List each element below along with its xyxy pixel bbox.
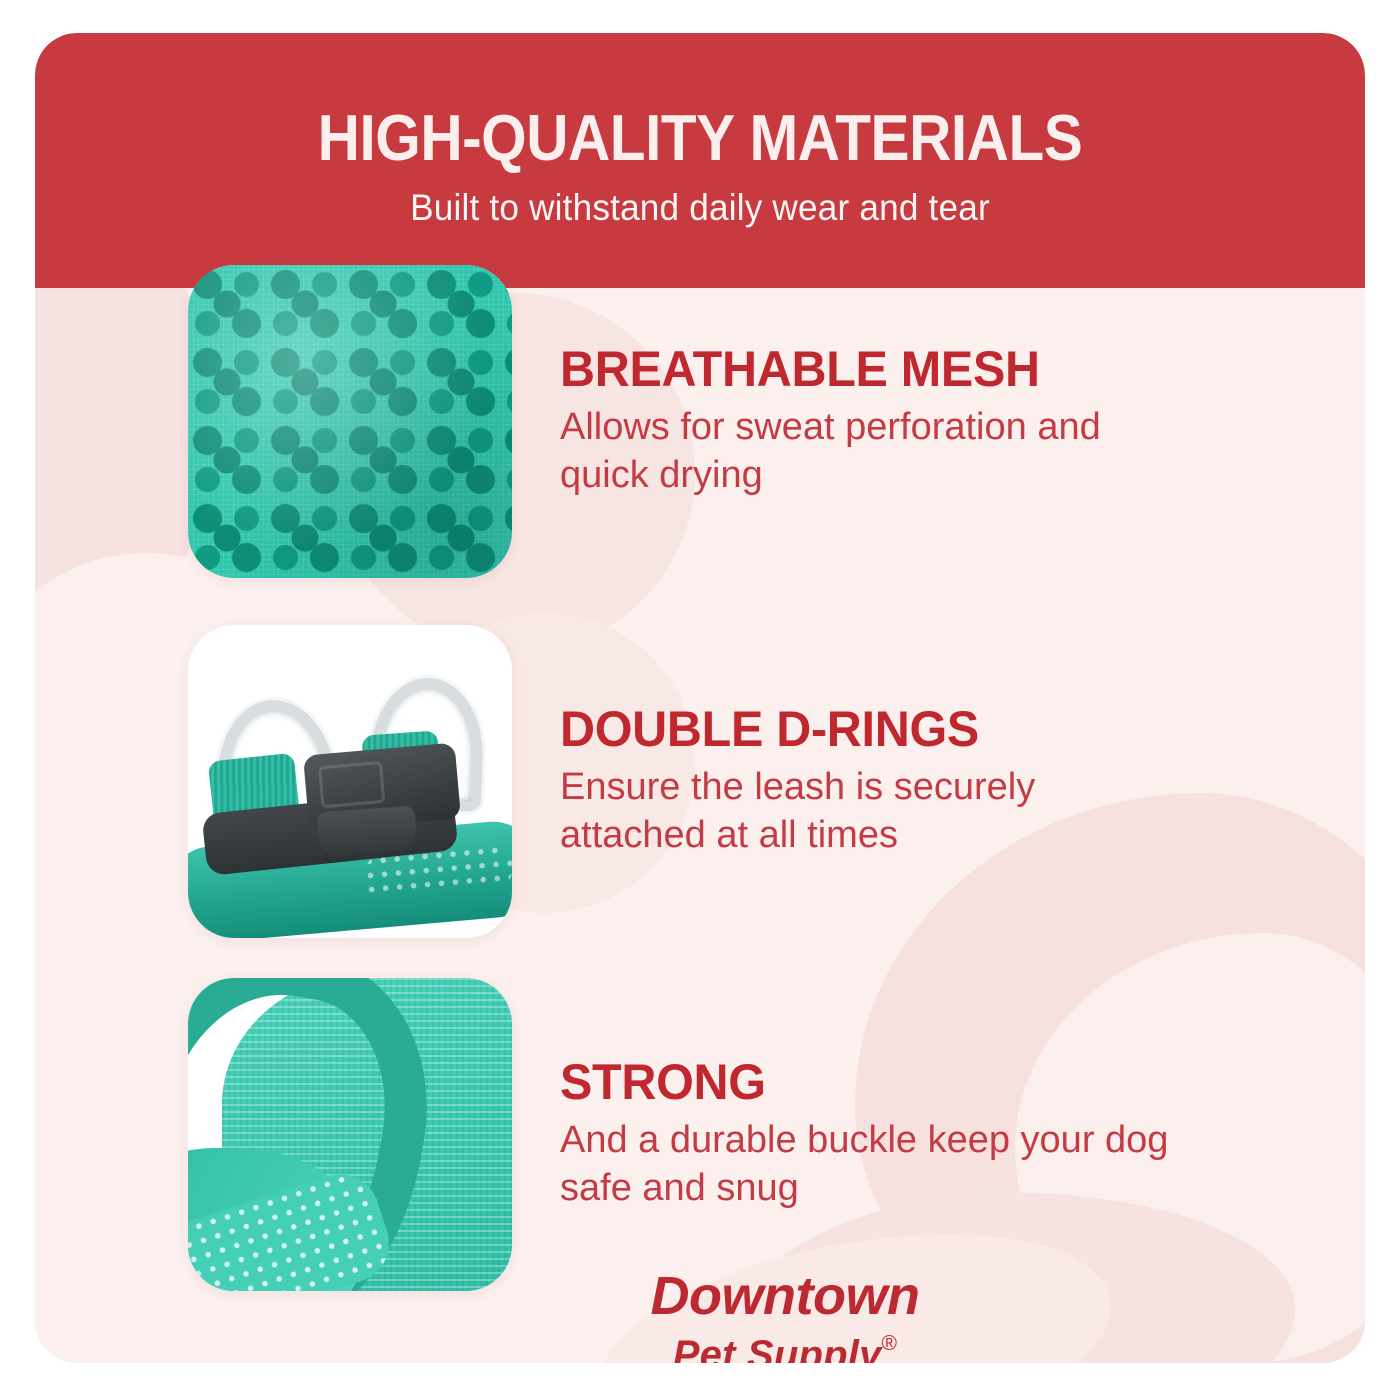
d-rings-art (188, 625, 512, 938)
feature-row-breathable-mesh: BREATHABLE MESH Allows for sweat perfora… (188, 265, 1180, 578)
content-card: HIGH-QUALITY MATERIALS Built to withstan… (35, 33, 1365, 1363)
brand-logo: Downtown Pet Supply® (575, 1269, 995, 1363)
feature-row-strong: STRONG And a durable buckle keep your do… (188, 978, 1180, 1291)
feature-title: DOUBLE D-RINGS (560, 704, 1161, 754)
header-banner: HIGH-QUALITY MATERIALS Built to withstan… (35, 33, 1365, 288)
feature-title: STRONG (560, 1057, 1161, 1107)
double-d-rings-photo (188, 625, 512, 938)
feature-text-breathable-mesh: BREATHABLE MESH Allows for sweat perfora… (560, 344, 1180, 500)
brand-logo-line2-text: Pet Supply (673, 1333, 882, 1363)
feature-description: And a durable buckle keep your dog safe … (560, 1117, 1180, 1213)
brand-logo-line1: Downtown (575, 1269, 995, 1323)
strong-buckle-photo (188, 978, 512, 1291)
mesh-highlight-overlay (188, 265, 512, 578)
page-title: HIGH-QUALITY MATERIALS (102, 33, 1299, 170)
feature-description: Allows for sweat perforation and quick d… (560, 404, 1180, 500)
registered-trademark-mark: ® (882, 1332, 898, 1355)
breathable-mesh-photo (188, 265, 512, 578)
brand-logo-line2: Pet Supply® (575, 1333, 995, 1363)
feature-title: BREATHABLE MESH (560, 344, 1161, 394)
feature-text-strong: STRONG And a durable buckle keep your do… (560, 1057, 1180, 1213)
feature-description: Ensure the leash is securely attached at… (560, 764, 1180, 860)
feature-row-double-d-rings: DOUBLE D-RINGS Ensure the leash is secur… (188, 625, 1180, 938)
page-subtitle: Built to withstand daily wear and tear (68, 170, 1332, 229)
buckle-tongue-art (317, 806, 418, 857)
infographic-canvas: HIGH-QUALITY MATERIALS Built to withstan… (0, 0, 1400, 1400)
strong-binding-art (188, 978, 512, 1291)
feature-text-double-d-rings: DOUBLE D-RINGS Ensure the leash is secur… (560, 704, 1180, 860)
